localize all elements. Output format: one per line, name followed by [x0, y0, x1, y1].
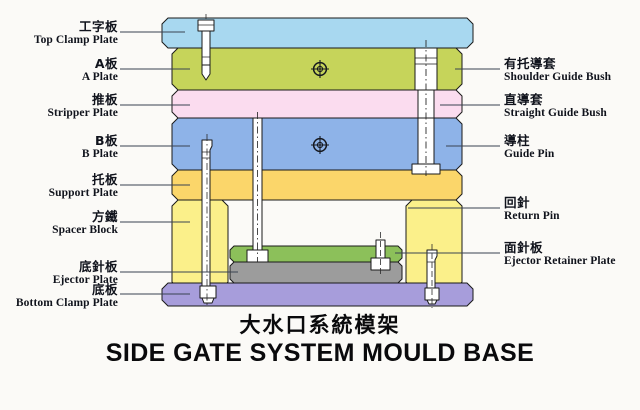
label-en: Top Clamp Plate	[0, 34, 118, 46]
label-support-plate: 托板 Support Plate	[0, 173, 118, 199]
label-en: Spacer Block	[0, 224, 118, 236]
label-bottom-clamp-plate: 底板 Bottom Clamp Plate	[0, 283, 118, 309]
label-en: Ejector Retainer Plate	[504, 255, 640, 267]
label-cn: 推板	[0, 93, 118, 107]
label-en: Straight Guide Bush	[504, 107, 640, 119]
label-cn: 直導套	[504, 93, 640, 107]
label-cn: 工字板	[0, 20, 118, 34]
title-english: SIDE GATE SYSTEM MOULD BASE	[0, 338, 640, 368]
label-cn: A板	[0, 57, 118, 71]
label-cn: 底針板	[0, 260, 118, 274]
label-en: Stripper Plate	[0, 107, 118, 119]
label-cn: 導柱	[504, 134, 640, 148]
label-cn: 面針板	[504, 241, 640, 255]
diagram-canvas: 工字板 Top Clamp Plate A板 A Plate 推板 Stripp…	[0, 0, 640, 410]
label-en: Bottom Clamp Plate	[0, 297, 118, 309]
label-en: Guide Pin	[504, 148, 640, 160]
label-a-plate: A板 A Plate	[0, 57, 118, 83]
label-shoulder-guide-bush: 有托導套 Shoulder Guide Bush	[504, 57, 640, 83]
label-stripper-plate: 推板 Stripper Plate	[0, 93, 118, 119]
label-cn: 底板	[0, 283, 118, 297]
figure-title: 大水口系統模架 SIDE GATE SYSTEM MOULD BASE	[0, 312, 640, 368]
label-ejector-retainer-plate: 面針板 Ejector Retainer Plate	[504, 241, 640, 267]
spacer-block-left	[172, 200, 228, 288]
label-straight-guide-bush: 直導套 Straight Guide Bush	[504, 93, 640, 119]
label-return-pin: 回針 Return Pin	[504, 196, 640, 222]
title-chinese: 大水口系統模架	[0, 312, 640, 338]
label-cn: B板	[0, 134, 118, 148]
label-guide-pin: 導柱 Guide Pin	[504, 134, 640, 160]
label-cn: 有托導套	[504, 57, 640, 71]
label-cn: 方鐵	[0, 210, 118, 224]
label-b-plate: B板 B Plate	[0, 134, 118, 160]
label-en: A Plate	[0, 71, 118, 83]
label-cn: 回針	[504, 196, 640, 210]
label-en: B Plate	[0, 148, 118, 160]
label-top-clamp-plate: 工字板 Top Clamp Plate	[0, 20, 118, 46]
label-en: Shoulder Guide Bush	[504, 71, 640, 83]
label-cn: 托板	[0, 173, 118, 187]
label-en: Support Plate	[0, 187, 118, 199]
label-en: Return Pin	[504, 210, 640, 222]
label-spacer-block: 方鐵 Spacer Block	[0, 210, 118, 236]
